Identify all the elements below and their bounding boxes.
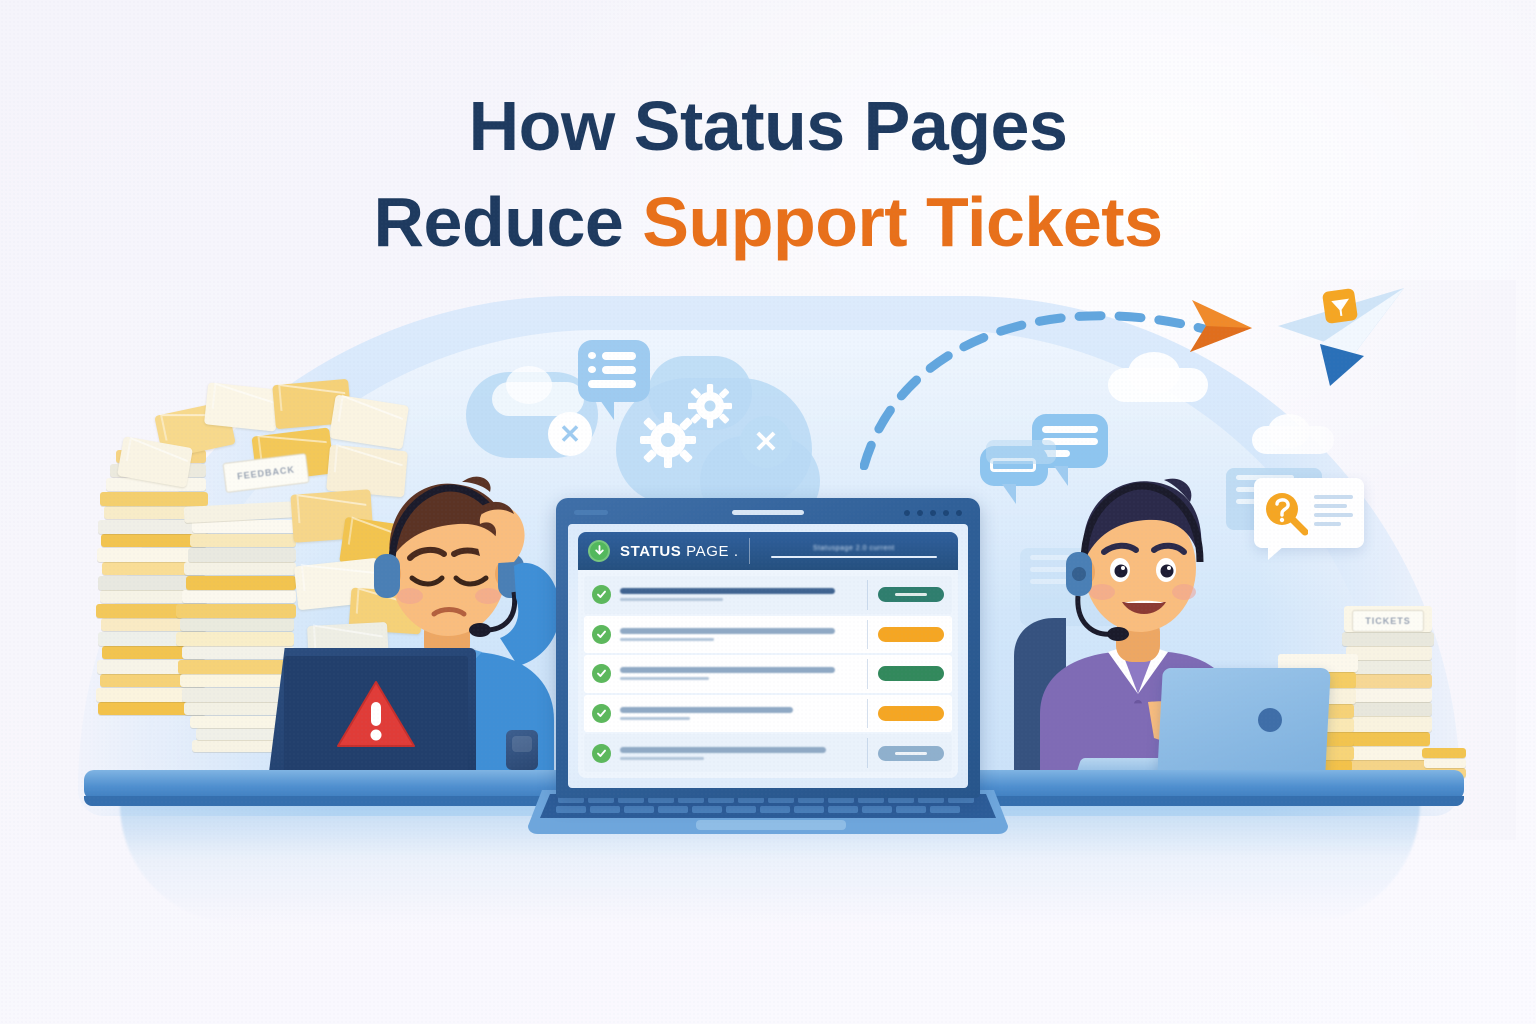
status-badge <box>878 587 944 602</box>
question-magnifier-icon <box>1262 490 1308 536</box>
title-line-2-accent: Support Tickets <box>642 183 1162 261</box>
status-page-title-bold: STATUS <box>620 543 681 560</box>
x-close-icon: ✕ <box>548 412 592 456</box>
check-circle-icon <box>592 744 611 763</box>
card-text-lines <box>1314 495 1356 531</box>
dashed-arc-arrow-icon <box>860 270 1300 475</box>
chat-bubble-icon <box>578 340 650 402</box>
title-line-2: Reduce Support Tickets <box>0 174 1536 270</box>
status-row-text <box>620 588 860 601</box>
title-line-1: How Status Pages <box>0 78 1536 174</box>
status-page-meta: Statuspage 2.0 current <box>760 545 948 558</box>
row-divider <box>867 659 868 689</box>
status-row[interactable] <box>584 695 952 733</box>
illustration-canvas: How Status Pages Reduce Support Tickets … <box>0 0 1536 1024</box>
center-laptop: STATUS PAGE . Statuspage 2.0 current <box>556 498 980 798</box>
laptop-screen <box>284 656 468 772</box>
question-help-card <box>1254 478 1364 548</box>
status-row-text <box>620 667 860 680</box>
envelope-icon <box>204 382 280 431</box>
laptop-screen: STATUS PAGE . Statuspage 2.0 current <box>568 524 968 788</box>
status-page-rows <box>578 570 958 778</box>
status-row[interactable] <box>584 734 952 772</box>
title-line-2-plain: Reduce <box>373 183 642 261</box>
computer-mouse <box>506 730 538 770</box>
warning-triangle-icon <box>336 678 416 750</box>
check-circle-icon <box>592 625 611 644</box>
status-page-meta-text: Statuspage 2.0 current <box>760 545 948 552</box>
status-row-text <box>620 628 860 641</box>
status-row-text <box>620 707 860 720</box>
right-agent-laptop <box>1160 668 1328 776</box>
left-agent-laptop <box>268 648 476 780</box>
check-circle-icon <box>592 704 611 723</box>
paper-plane-icon <box>1272 282 1412 397</box>
x-close-icon: ✕ <box>740 416 792 468</box>
bezel-accent <box>574 510 608 515</box>
check-circle-icon <box>592 664 611 683</box>
status-page-title-light: PAGE . <box>686 543 739 560</box>
cloud-icon <box>506 366 552 404</box>
status-badge <box>878 746 944 761</box>
status-badge <box>878 627 944 642</box>
page-title: How Status Pages Reduce Support Tickets <box>0 78 1536 270</box>
row-divider <box>867 580 868 610</box>
download-arrow-icon[interactable] <box>588 540 610 562</box>
status-row[interactable] <box>584 655 952 693</box>
row-divider <box>867 699 868 729</box>
status-page-meta-rule <box>771 556 937 558</box>
ticket-label-feedback: FEEDBACK <box>222 453 309 493</box>
status-page-header: STATUS PAGE . Statuspage 2.0 current <box>578 532 958 570</box>
ticket-label-tickets: TICKETS <box>1352 610 1424 632</box>
row-divider <box>867 738 868 768</box>
bezel-dots <box>904 510 962 516</box>
status-row[interactable] <box>584 616 952 654</box>
header-divider <box>749 538 750 564</box>
laptop-logo <box>1258 708 1282 732</box>
status-page-title: STATUS PAGE . <box>620 543 739 560</box>
laptop-lid <box>1157 668 1331 776</box>
gear-icon <box>688 384 732 428</box>
row-divider <box>867 620 868 650</box>
bezel-speaker <box>732 510 804 515</box>
status-badge <box>878 666 944 681</box>
status-badge <box>878 706 944 721</box>
status-row[interactable] <box>584 576 952 614</box>
status-row-text <box>620 747 860 760</box>
check-circle-icon <box>592 585 611 604</box>
envelope-icon <box>329 394 409 449</box>
